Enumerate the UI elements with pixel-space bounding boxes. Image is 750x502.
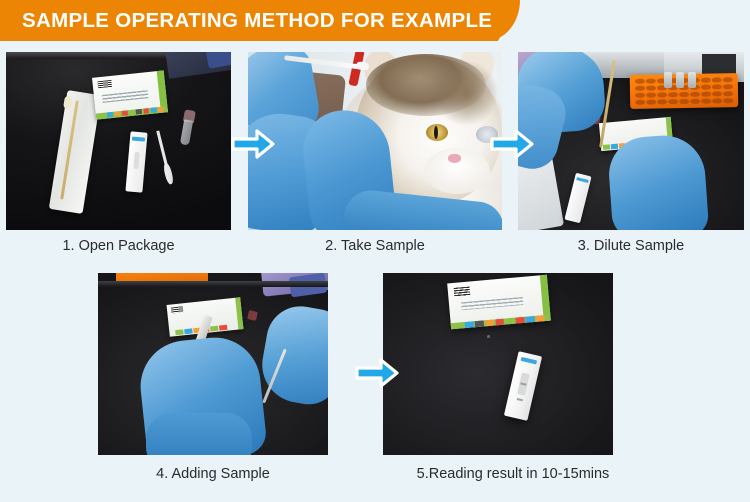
arrow-step-2-to-3 xyxy=(490,129,534,159)
bench-edge xyxy=(98,281,328,287)
arrow-step-4-to-5 xyxy=(355,358,399,388)
packet-text-block xyxy=(461,297,523,310)
step-5-caption: 5.Reading result in 10-15mins xyxy=(383,466,643,482)
packet-logo xyxy=(454,287,471,297)
sample-vial-3 xyxy=(688,72,696,88)
step-4-caption: 4. Adding Sample xyxy=(98,466,328,482)
header-banner: SAMPLE OPERATING METHOD FOR EXAMPLE xyxy=(0,0,520,41)
cat-nose xyxy=(448,154,461,163)
buffer-packet xyxy=(447,275,551,330)
sample-vial-1 xyxy=(664,72,672,88)
packet-text-block xyxy=(102,90,149,103)
cassette-result-window xyxy=(133,152,139,169)
cassette-blue-band xyxy=(132,137,145,142)
step-5-image xyxy=(383,273,613,455)
infographic-page: SAMPLE OPERATING METHOD FOR EXAMPLE xyxy=(0,0,750,502)
rack-wells xyxy=(635,77,733,105)
collection-swab-tip xyxy=(356,61,370,71)
step-4-image xyxy=(98,273,328,455)
cassette-blue-band xyxy=(521,357,537,364)
step-1-caption: 1. Open Package xyxy=(6,238,231,254)
test-line xyxy=(517,398,523,401)
step-2-image xyxy=(248,52,502,230)
step-1-image xyxy=(6,52,231,230)
bench-speck xyxy=(487,335,490,338)
step-3-image xyxy=(518,52,744,230)
cassette-blue-band xyxy=(576,177,588,183)
packet-logo xyxy=(171,306,184,313)
step-2-caption: 2. Take Sample xyxy=(248,238,502,254)
arrow-step-1-to-2 xyxy=(231,129,275,159)
buffer-packet xyxy=(92,70,168,119)
packet-logo xyxy=(97,80,112,88)
sample-vial-2 xyxy=(676,72,684,88)
page-title: SAMPLE OPERATING METHOD FOR EXAMPLE xyxy=(22,0,492,41)
cat-eye-left xyxy=(426,124,448,141)
glove-cuff-left xyxy=(146,413,252,455)
step-3-caption: 3. Dilute Sample xyxy=(518,238,744,254)
orange-tube-rack xyxy=(630,73,739,109)
